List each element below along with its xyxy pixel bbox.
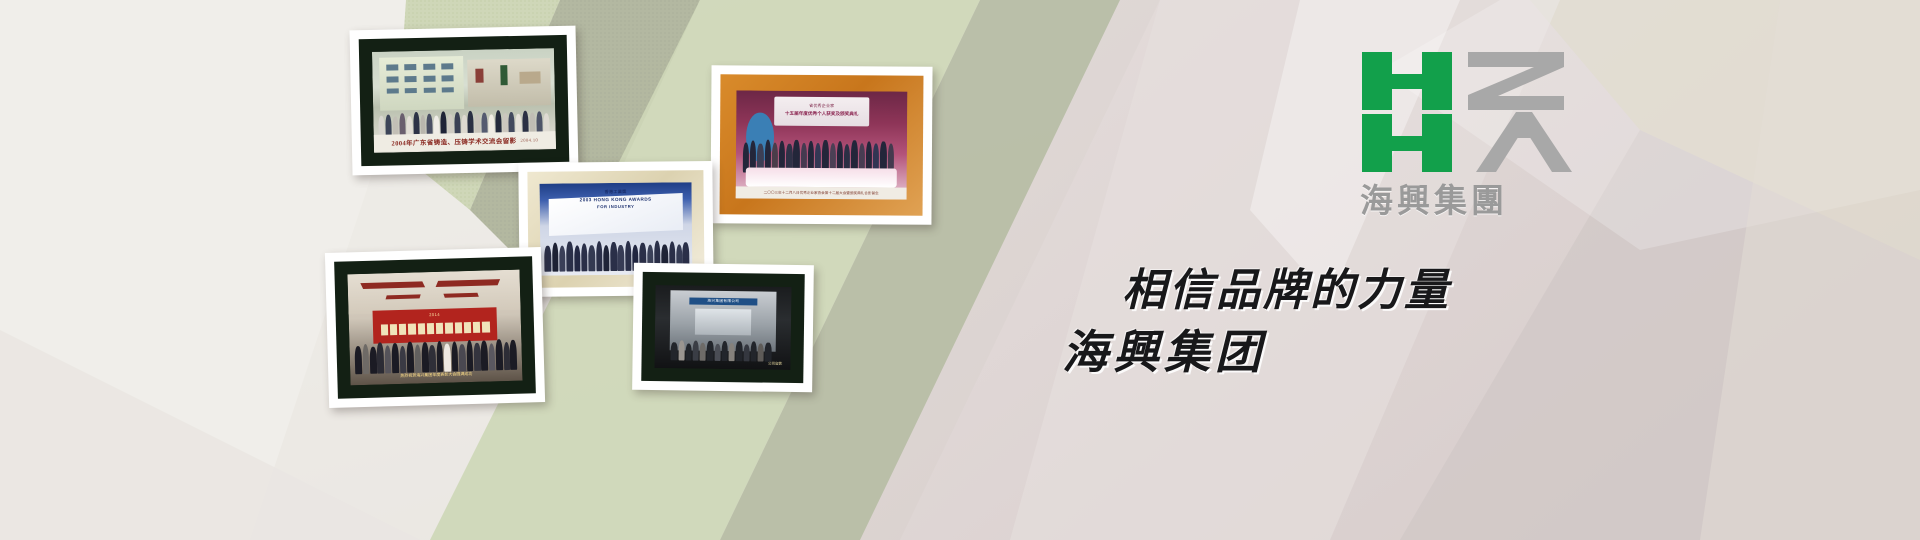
logo-letters [1360, 50, 1575, 175]
photo-image-2004: 2004年广东省铸造、压铸学术交流会留影 2004.10 [372, 48, 556, 153]
photo-crowd [671, 335, 775, 361]
logo-za-letters-icon [1464, 50, 1575, 175]
stage-banner: 省优秀企业家 十五届年度优秀个人获奖及颁奖典礼 [774, 97, 870, 126]
logo-h-letters-icon [1360, 50, 1464, 175]
photo-caption-entrance: 公司留影 [768, 361, 782, 366]
banner-year: 2014 [373, 310, 497, 318]
hero-banner: 2004年广东省铸造、压铸学术交流会留影 2004.10 省优秀企业家 十五届年… [0, 0, 1920, 540]
calligraphy-slogan: 相信品牌的力量 海興集团 [1060, 240, 1480, 400]
caption-date: 2004.10 [520, 137, 538, 142]
frame-border: 2004年广东省铸造、压铸学术交流会留影 2004.10 [359, 35, 570, 166]
photo-image-entrance: 海兴集团有限公司 [654, 285, 791, 370]
banner-line-2: 十五届年度优秀个人获奖及颁奖典礼 [774, 111, 870, 118]
logo-chinese-name: 海興集團 [1360, 174, 1575, 222]
caption-text: 2004年广东省铸造、压铸学术交流会留影 [391, 135, 516, 148]
frame-border: 海兴集团有限公司 [641, 272, 805, 383]
award-cards [380, 321, 489, 335]
photo-image-2014: 2014 [347, 270, 522, 386]
slogan-line-2: 海興集团 [1062, 316, 1266, 382]
stage-flowers [746, 167, 897, 187]
photo-frame-award-ceremony: 省优秀企业家 十五届年度优秀个人获奖及颁奖典礼 [710, 65, 932, 225]
brand-logo: 海興集團 [1360, 50, 1575, 220]
banner-line-1: 省优秀企业家 [774, 102, 870, 109]
slogan-line-1: 相信品牌的力量 [1122, 254, 1451, 318]
photo-frame-2014-meeting: 2014 [325, 247, 545, 408]
background-shapes [0, 0, 1920, 540]
photo-frame-2004-conference: 2004年广东省铸造、压铸学术交流会留影 2004.10 [350, 26, 579, 176]
company-sign: 海兴集团有限公司 [689, 298, 757, 306]
photo-image-award: 省优秀企业家 十五届年度优秀个人获奖及颁奖典礼 [736, 90, 908, 199]
company-sign-text: 海兴集团有限公司 [689, 299, 757, 305]
photo-caption-award: 二〇〇三年十二月八日优秀企业家协会第十二届大会暨颁奖典礼合影留念 [736, 187, 907, 200]
background-graphics [0, 0, 1920, 540]
frame-border: 省优秀企业家 十五届年度优秀个人获奖及颁奖典礼 [720, 74, 924, 215]
frame-border: 2014 [334, 256, 536, 398]
photo-frame-building-entrance: 海兴集团有限公司 [632, 263, 814, 393]
photo-image-hk-awards: 香港工業獎 2003 HONG KONG AWARDS FOR INDUSTRY [540, 182, 693, 276]
